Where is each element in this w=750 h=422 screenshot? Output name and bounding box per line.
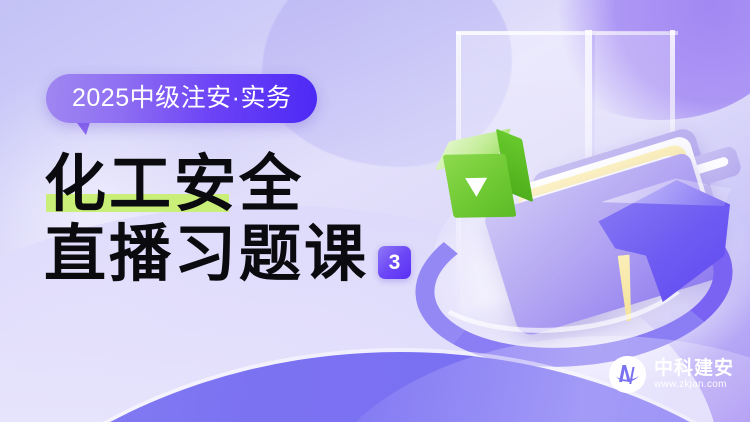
title-line-2: 直播习题课 3 [44,222,464,286]
course-illustration [425,30,750,360]
course-tag-pill: 2025中级注安·实务 [46,74,317,123]
course-tag-label: 2025中级注安·实务 [72,86,291,111]
brand-url: www.zkjan.com [654,380,734,390]
brand-logo-text: 中科建安 www.zkjan.com [654,359,734,390]
title-line-1-text: 化工安全 [44,152,304,216]
brand-name: 中科建安 [654,359,734,378]
episode-badge: 3 [378,246,411,279]
brand-logo[interactable]: 中科建安 www.zkjan.com [609,356,734,393]
course-title: 化工安全 直播习题课 3 [44,152,464,287]
zkjan-logo-icon [609,356,646,393]
title-line-1: 化工安全 [44,152,464,216]
course-banner: 2025中级注安·实务 化工安全 直播习题课 3 中科建安 www.zkj [0,0,750,422]
course-tag: 2025中级注安·实务 [46,74,317,123]
episode-number: 3 [389,252,401,273]
play-triangle-icon [465,178,487,197]
title-line-2-text: 直播习题课 [44,222,369,286]
